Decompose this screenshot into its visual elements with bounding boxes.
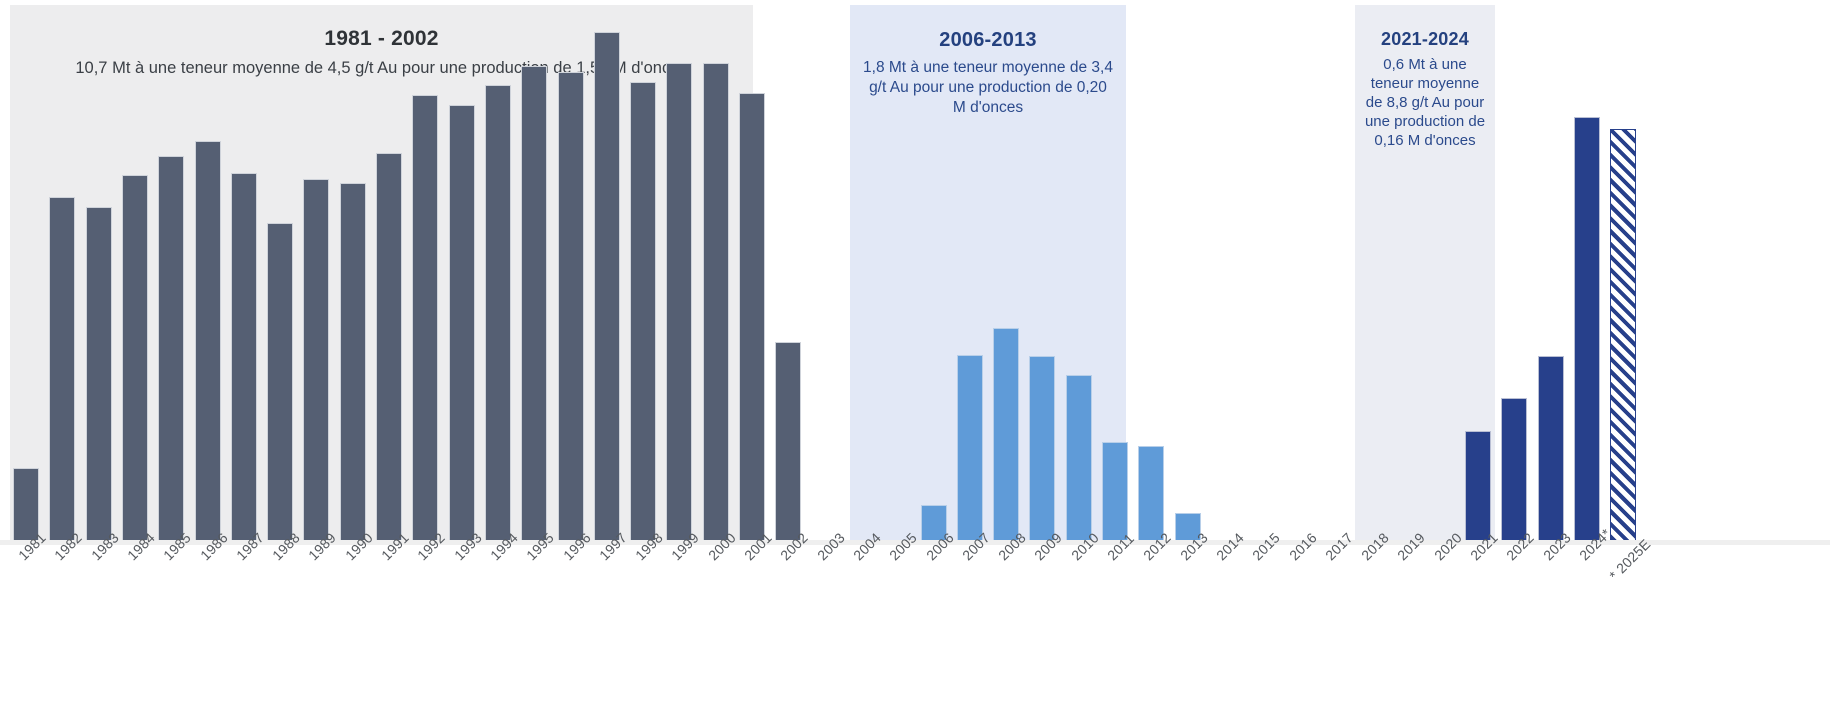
bar-2023 — [1538, 356, 1564, 540]
bar-2000 — [703, 63, 729, 540]
bar-2022 — [1501, 398, 1527, 540]
bar-2002 — [775, 342, 801, 540]
bar-2009 — [1029, 356, 1055, 540]
bar-1988 — [267, 223, 293, 540]
bar-1993 — [449, 105, 475, 540]
bar-1990 — [340, 183, 366, 540]
bar-1984 — [122, 175, 148, 540]
bar-1999 — [666, 63, 692, 540]
bar-2025E — [1610, 129, 1636, 540]
bar-1989 — [303, 179, 329, 540]
bar-1998 — [630, 82, 656, 540]
bar-1992 — [412, 95, 438, 540]
bar-2011 — [1102, 442, 1128, 540]
bar-2007 — [957, 355, 983, 540]
bar-1994 — [485, 85, 511, 540]
chart-root: 1981 - 2002 10,7 Mt à une teneur moyenne… — [0, 0, 1830, 712]
bar-1991 — [376, 153, 402, 540]
bar-2012 — [1138, 446, 1164, 540]
bar-1987 — [231, 173, 257, 540]
bar-1996 — [558, 72, 584, 540]
bar-2024 — [1574, 117, 1600, 540]
bar-1997 — [594, 32, 620, 540]
bars-layer — [0, 0, 1830, 545]
bar-2021 — [1465, 431, 1491, 540]
bar-1983 — [86, 207, 112, 540]
bar-1985 — [158, 156, 184, 540]
bar-1981 — [13, 468, 39, 540]
bar-2010 — [1066, 375, 1092, 540]
bar-2001 — [739, 93, 765, 540]
bar-1995 — [521, 66, 547, 540]
bar-2008 — [993, 328, 1019, 540]
bar-1986 — [195, 141, 221, 540]
bar-1982 — [49, 197, 75, 540]
